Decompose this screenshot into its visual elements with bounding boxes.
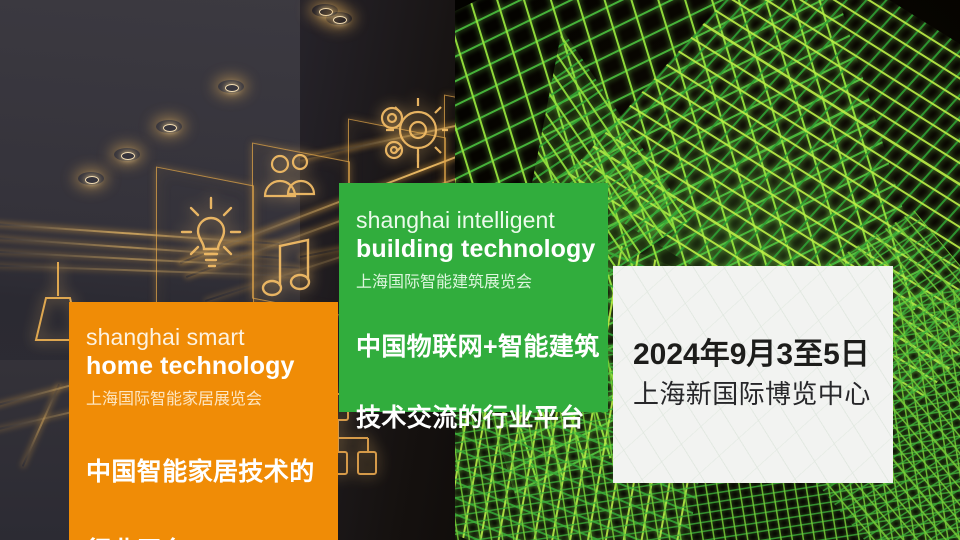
gears-icon (374, 92, 448, 177)
smart-home-cn-subtitle: 上海国际智能家居展览会 (86, 389, 338, 411)
smart-home-cn-tagline-line1: 中国智能家居技术的 (86, 456, 338, 489)
event-venue: 上海新国际博览中心 (633, 378, 893, 412)
smart-home-en-line2: home technology (86, 352, 338, 382)
ceiling-spotlight-icon (218, 80, 244, 93)
building-en-line1: shanghai intelligent (356, 207, 608, 234)
exhibition-banner: shanghai smart home technology 上海国际智能家居展… (0, 0, 960, 540)
building-cn-tagline-line2: 技术交流的行业平台 (356, 402, 608, 435)
people-icon (260, 150, 322, 211)
lightbulb-icon (178, 192, 244, 283)
card-date-venue: 2024年9月3至5日 上海新国际博览中心 (613, 266, 893, 483)
event-date: 2024年9月3至5日 (633, 337, 893, 374)
smart-home-cn-tagline-line2: 行业平台 (86, 535, 338, 540)
music-note-icon (258, 236, 318, 307)
building-cn-tagline-line1: 中国物联网+智能建筑 (356, 331, 608, 364)
ceiling-spotlight-icon (156, 120, 182, 133)
ceiling-spotlight-icon (114, 148, 140, 161)
building-en-line2: building technology (356, 235, 608, 265)
ceiling-spotlight-icon (78, 172, 104, 185)
smart-home-en-line1: shanghai smart (86, 324, 338, 351)
building-cn-subtitle: 上海国际智能建筑展览会 (356, 272, 608, 294)
card-intelligent-building: shanghai intelligent building technology… (339, 183, 608, 412)
ceiling-spotlight-icon (326, 12, 352, 25)
card-smart-home: shanghai smart home technology 上海国际智能家居展… (69, 302, 338, 540)
